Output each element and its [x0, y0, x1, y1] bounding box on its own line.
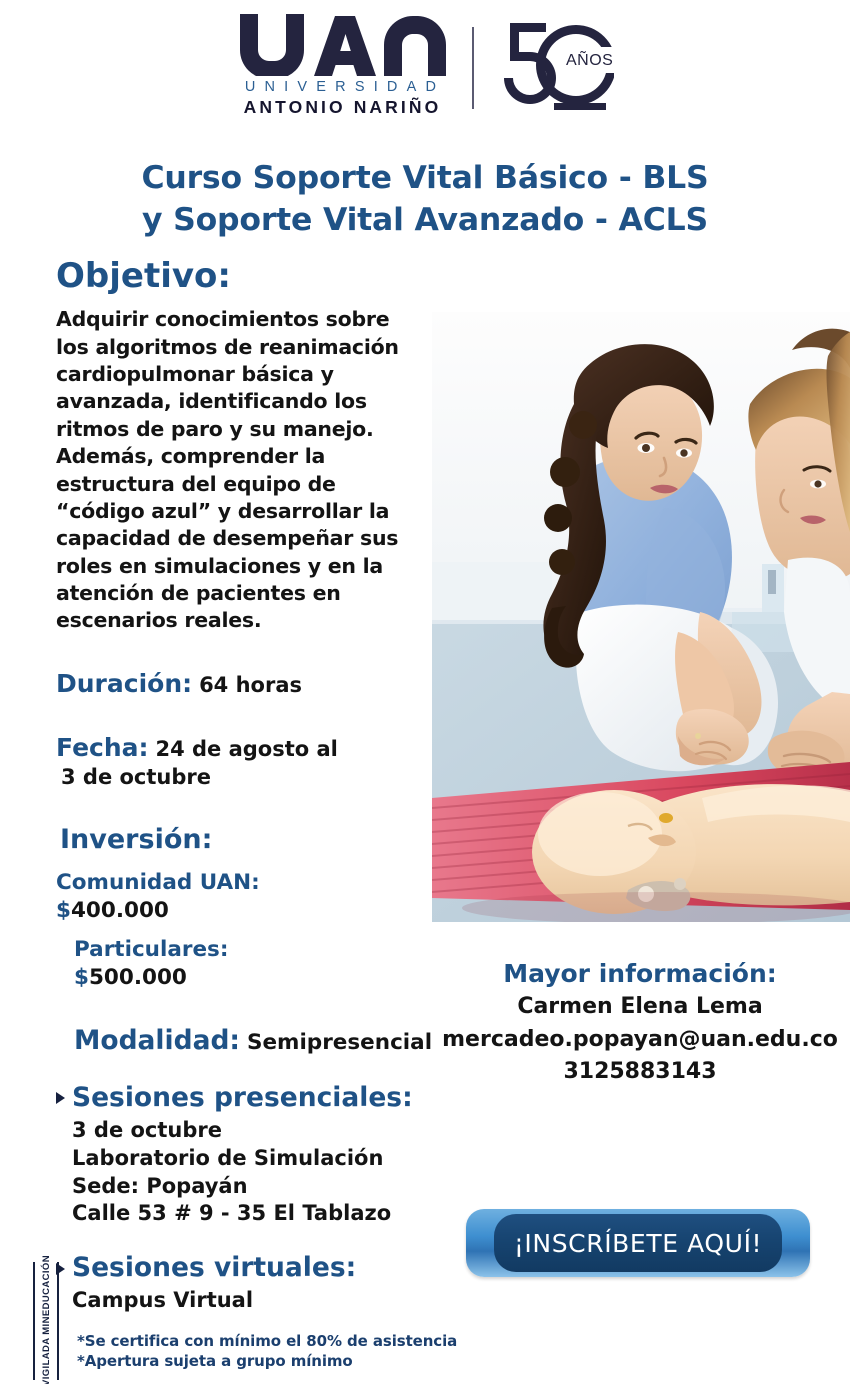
sesiones-presenciales-heading: Sesiones presenciales:	[56, 1082, 436, 1113]
logo-universidad-text: UNIVERSIDAD	[237, 79, 445, 95]
presencial-place: Laboratorio de Simulación	[72, 1145, 436, 1173]
anniversary-50-icon: AÑOS	[496, 17, 614, 115]
logo-divider	[472, 27, 474, 109]
currency-symbol: $	[74, 965, 89, 990]
anniversary-label: AÑOS	[566, 49, 613, 69]
contact-heading: Mayor información:	[440, 958, 840, 989]
price-label-particulares: Particulares:	[74, 936, 436, 964]
presencial-address: Calle 53 # 9 - 35 El Tablazo	[72, 1200, 436, 1228]
fecha-value-line2: 3 de octubre	[56, 765, 436, 791]
sesiones-virtuales-details: Campus Virtual	[56, 1287, 436, 1315]
vigilada-text: VIGILADA MINEDUCACIÓN	[41, 1255, 52, 1384]
footnote-line2: *Apertura sujeta a grupo mínimo	[77, 1351, 457, 1371]
vigilada-mineducacion-badge: VIGILADA MINEDUCACIÓN	[33, 1262, 59, 1380]
inscribete-aqui-button[interactable]: ¡INSCRÍBETE AQUÍ!	[466, 1209, 810, 1277]
contact-email[interactable]: mercadeo.popayan@uan.edu.co	[440, 1025, 840, 1054]
left-content-column: Objetivo: Adquirir conocimientos sobre l…	[56, 258, 436, 1315]
duracion-label: Duración:	[56, 669, 192, 698]
presencial-date: 3 de octubre	[72, 1117, 436, 1145]
page-title-line1: Curso Soporte Vital Básico - BLS	[0, 158, 850, 200]
price-label-comunidad: Comunidad UAN:	[56, 869, 436, 897]
sesiones-presenciales-details: 3 de octubre Laboratorio de Simulación S…	[56, 1117, 436, 1229]
cpr-training-photo	[432, 312, 850, 922]
modalidad-row: Modalidad: Semipresencial	[56, 1025, 436, 1057]
price-amount-comunidad: 400.000	[71, 898, 169, 923]
footnotes: *Se certifica con mínimo el 80% de asist…	[77, 1331, 457, 1372]
triangle-bullet-icon	[56, 1092, 65, 1104]
course-poster: UNIVERSIDAD ANTONIO NARIÑO AÑOS Curso So…	[0, 0, 850, 1384]
virtual-value: Campus Virtual	[72, 1287, 436, 1315]
cta-label: ¡INSCRÍBETE AQUÍ!	[514, 1229, 762, 1258]
uan-wordmark-group: UNIVERSIDAD ANTONIO NARIÑO	[236, 14, 446, 118]
duracion-row: Duración: 64 horas	[56, 669, 436, 700]
modalidad-value: Semipresencial	[247, 1030, 432, 1055]
modalidad-label: Modalidad:	[74, 1025, 240, 1056]
price-group-particulares: Particulares: $500.000	[56, 936, 436, 991]
footnote-line1: *Se certifica con mínimo el 80% de asist…	[77, 1331, 457, 1351]
currency-symbol: $	[56, 898, 71, 923]
uan-logo-icon	[236, 14, 446, 76]
objetivo-heading: Objetivo:	[56, 258, 436, 295]
sesiones-virtuales-heading-text: Sesiones virtuales:	[72, 1252, 356, 1283]
presencial-sede: Sede: Popayán	[72, 1173, 436, 1201]
sede-label: Sede:	[72, 1174, 139, 1198]
page-title: Curso Soporte Vital Básico - BLS y Sopor…	[0, 158, 850, 242]
price-amount-particulares: 500.000	[89, 965, 187, 990]
page-title-line2: y Soporte Vital Avanzado - ACLS	[0, 200, 850, 242]
uan-logo-header: UNIVERSIDAD ANTONIO NARIÑO AÑOS	[0, 14, 850, 118]
contact-block: Mayor información: Carmen Elena Lema mer…	[440, 958, 840, 1086]
price-value-particulares: $500.000	[74, 964, 436, 992]
logo-antonio-narino-text: ANTONIO NARIÑO	[241, 97, 442, 118]
inversion-heading: Inversión:	[56, 824, 436, 855]
fecha-value-line1: 24 de agosto al	[155, 737, 337, 761]
cta-inner-face[interactable]: ¡INSCRÍBETE AQUÍ!	[494, 1214, 782, 1272]
sesiones-presenciales-heading-text: Sesiones presenciales:	[72, 1082, 413, 1113]
fecha-label: Fecha:	[56, 733, 149, 762]
contact-phone[interactable]: 3125883143	[440, 1057, 840, 1086]
objetivo-body: Adquirir conocimientos sobre los algorit…	[56, 306, 428, 634]
duracion-value: 64 horas	[199, 673, 302, 697]
fecha-row: Fecha: 24 de agosto al 3 de octubre	[56, 733, 436, 790]
contact-name: Carmen Elena Lema	[440, 992, 840, 1021]
price-group-comunidad: Comunidad UAN: $400.000	[56, 869, 436, 924]
price-value-comunidad: $400.000	[56, 897, 436, 925]
sesiones-virtuales-heading: Sesiones virtuales:	[56, 1252, 436, 1283]
sede-value: Popayán	[146, 1174, 247, 1198]
